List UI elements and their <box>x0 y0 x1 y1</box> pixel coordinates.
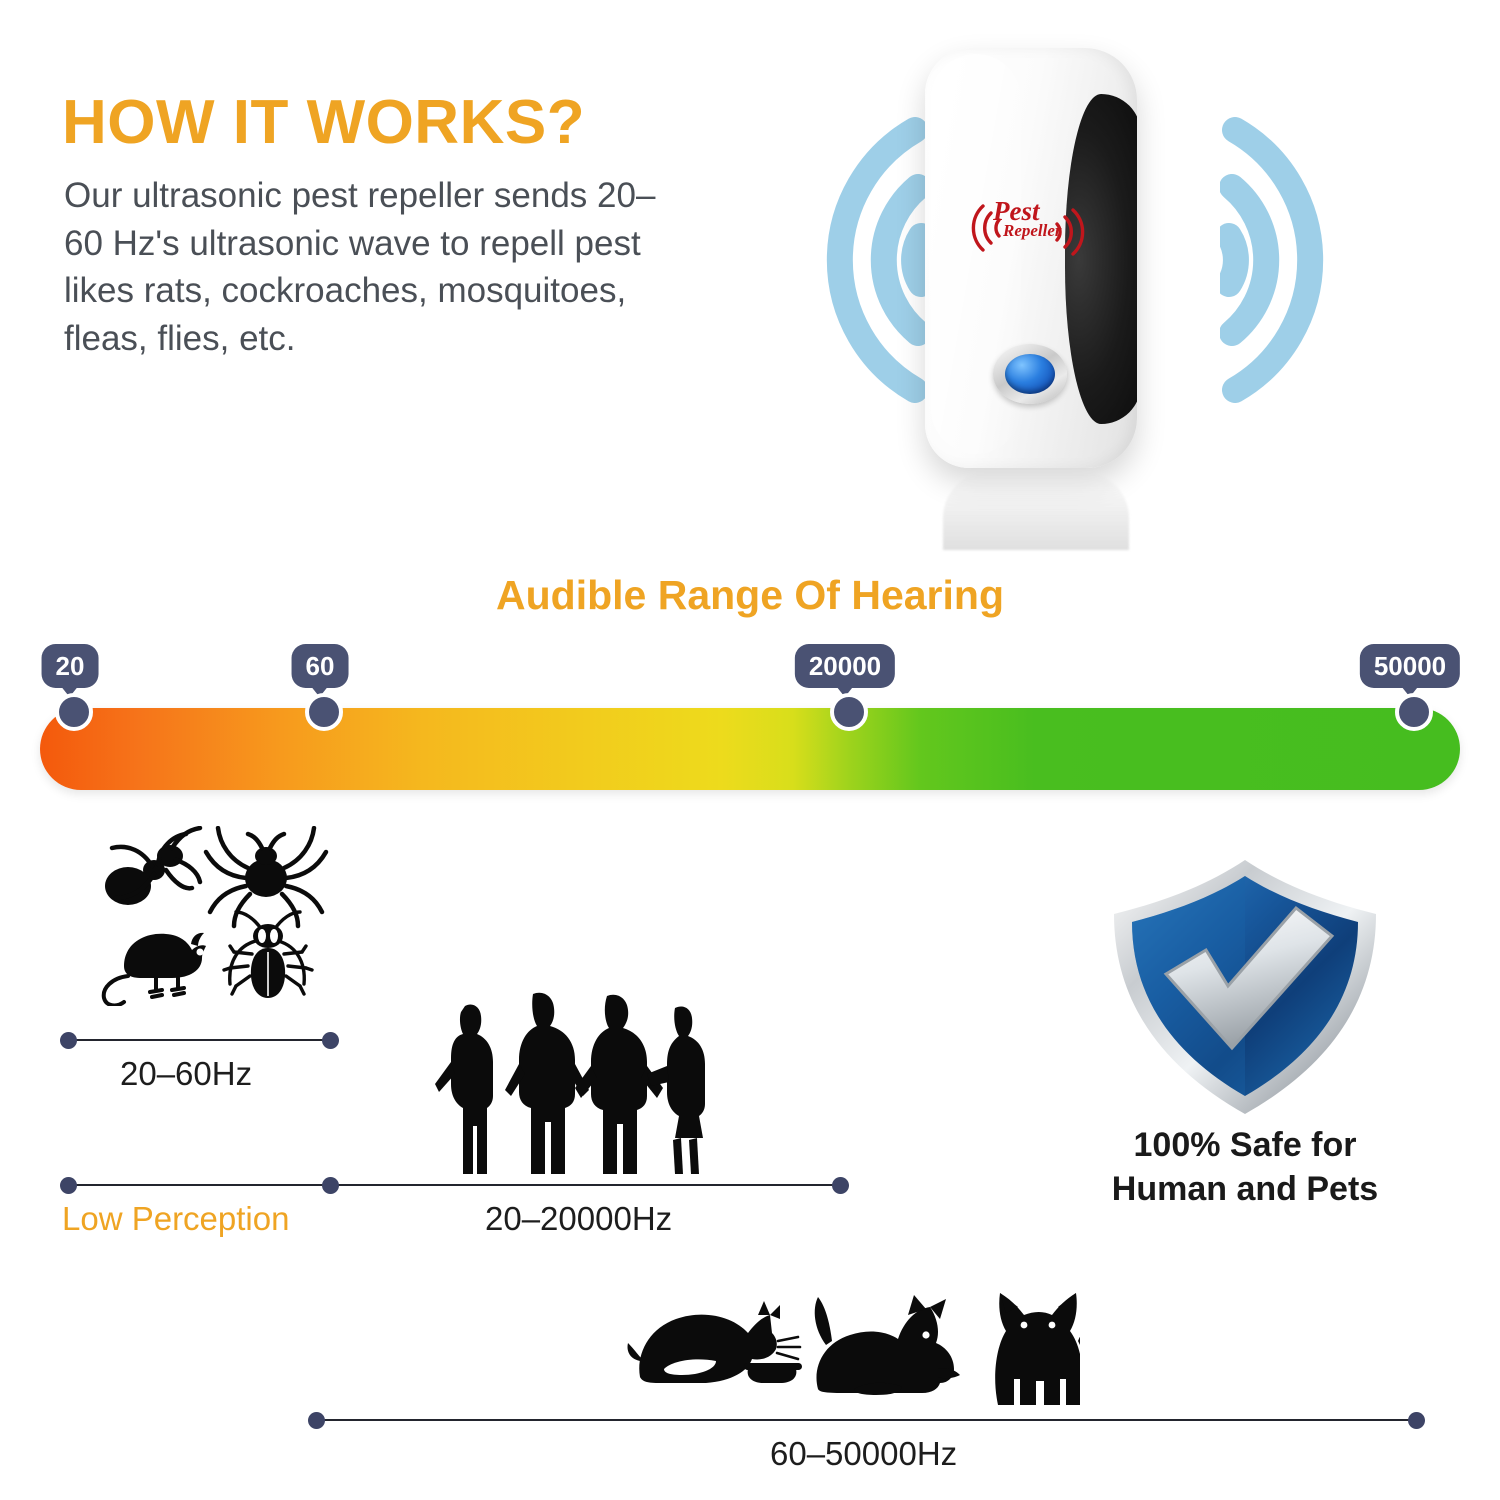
hero-description: Our ultrasonic pest repeller sends 20–60… <box>64 172 684 362</box>
human-man-icon <box>575 995 663 1174</box>
rat-icon <box>104 933 206 1006</box>
spectrum-marker-20000: 20000 <box>795 644 895 688</box>
human-woman-icon <box>435 1004 493 1174</box>
product-device-image: Pest Repeller <box>925 48 1165 518</box>
human-range-dot-start <box>60 1177 77 1194</box>
cat-standing-icon <box>995 1293 1080 1405</box>
human-icon-group <box>425 978 715 1183</box>
sound-wave-right-icon <box>1220 95 1450 430</box>
logo-text-secondary: Repeller <box>1003 222 1062 239</box>
safety-shield-badge <box>1100 852 1390 1120</box>
ant-icon <box>105 828 200 905</box>
sound-wave-left-icon <box>700 95 930 430</box>
led-glow <box>1005 354 1055 394</box>
device-reflection <box>943 472 1129 550</box>
spectrum-marker-20: 20 <box>42 644 99 688</box>
low-perception-label: Low Perception <box>62 1200 289 1238</box>
pet-icon-group <box>620 1285 1080 1425</box>
spider-icon <box>206 828 326 926</box>
infographic-root: HOW IT WORKS? Our ultrasonic pest repell… <box>0 0 1500 1500</box>
spectrum-tick-50000 <box>1395 693 1433 731</box>
pest-repeller-logo: Pest Repeller <box>953 196 1103 260</box>
section-title: Audible Range Of Hearing <box>0 572 1500 619</box>
safety-caption: 100% Safe for Human and Pets <box>1040 1124 1450 1211</box>
device-body: Pest Repeller <box>925 48 1137 468</box>
safety-caption-line1: 100% Safe for <box>1040 1124 1450 1168</box>
pest-range-dot-right <box>322 1032 339 1049</box>
human-man-icon <box>505 993 589 1174</box>
pet-range-dot-right <box>1408 1412 1425 1429</box>
pest-range-dot-left <box>60 1032 77 1049</box>
pet-range-dot-left <box>308 1412 325 1429</box>
spectrum-tick-20000 <box>830 693 868 731</box>
pet-range-line <box>316 1419 1416 1421</box>
pest-icon-group <box>88 826 338 1006</box>
frequency-spectrum-bar <box>40 708 1460 790</box>
human-range-line <box>68 1184 840 1186</box>
safety-caption-line2: Human and Pets <box>1040 1168 1450 1212</box>
pet-range-label: 60–50000Hz <box>770 1435 957 1473</box>
dog-lying-icon <box>815 1295 960 1395</box>
spectrum-tick-20 <box>55 693 93 731</box>
pest-range-label: 20–60Hz <box>120 1055 252 1093</box>
spectrum-marker-60: 60 <box>292 644 349 688</box>
pest-range-line <box>68 1039 330 1041</box>
cat-eating-icon <box>628 1301 803 1383</box>
spectrum-tick-60 <box>305 693 343 731</box>
page-title: HOW IT WORKS? <box>62 92 585 154</box>
shield-check-icon <box>1100 852 1390 1120</box>
human-range-dot-end <box>832 1177 849 1194</box>
logo-text: Pest Repeller <box>993 198 1062 239</box>
spectrum-marker-50000: 50000 <box>1360 644 1460 688</box>
human-range-label: 20–20000Hz <box>485 1200 672 1238</box>
human-range-dot-mid <box>322 1177 339 1194</box>
device-indicator-button[interactable] <box>993 344 1067 404</box>
